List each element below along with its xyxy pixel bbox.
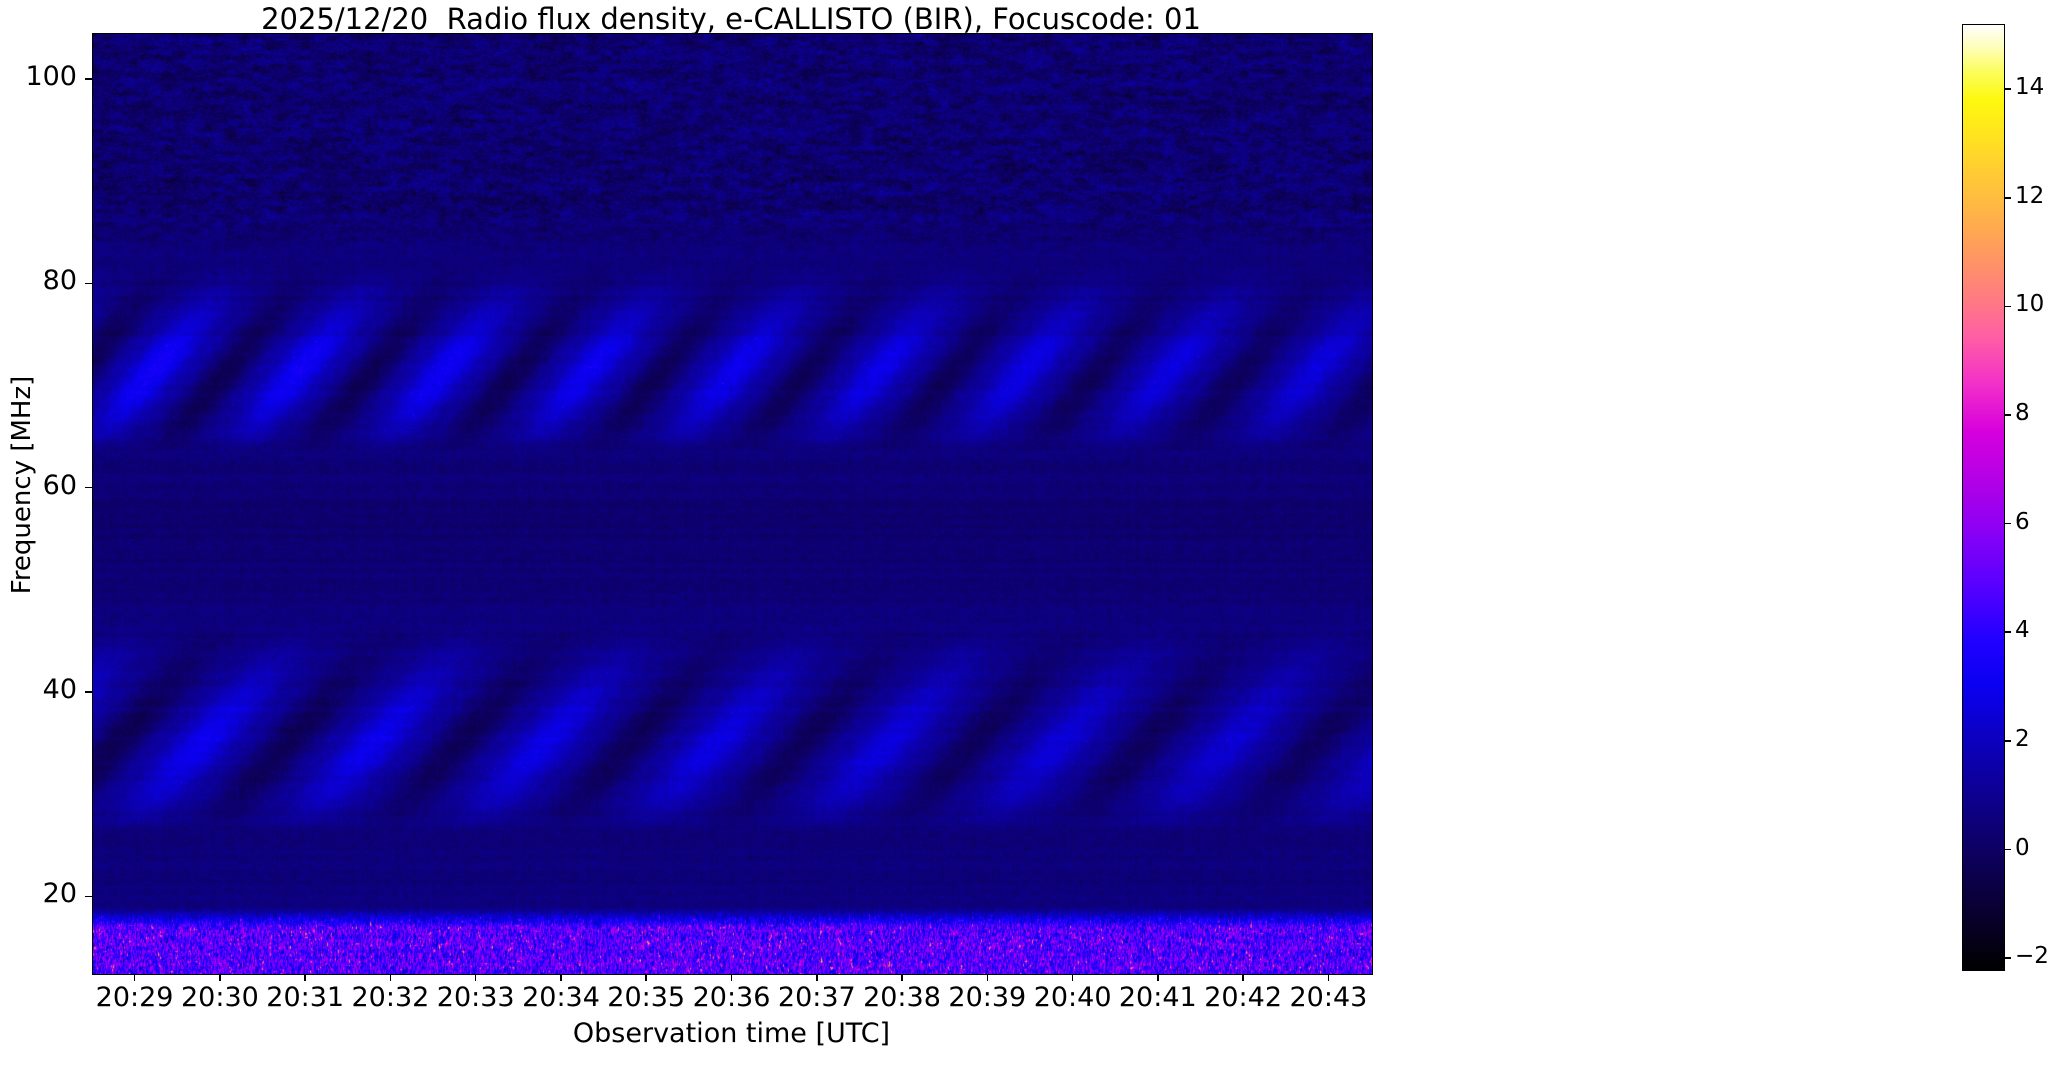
colorbar-tick-mark xyxy=(2004,88,2011,90)
colorbar-tick-label: 2 xyxy=(2015,726,2030,752)
colorbar[interactable] xyxy=(1962,24,2005,971)
x-tick-mark xyxy=(1072,974,1074,981)
figure-title: 2025/12/20 Radio flux density, e-CALLIST… xyxy=(0,2,1462,36)
x-tick-mark xyxy=(390,974,392,981)
y-tick-mark xyxy=(85,283,92,285)
x-tick-mark xyxy=(987,974,989,981)
y-tick-label: 80 xyxy=(0,265,77,296)
colorbar-gradient xyxy=(1963,25,2004,970)
x-tick-mark xyxy=(1242,974,1244,981)
x-tick-mark xyxy=(731,974,733,981)
y-tick-label: 20 xyxy=(0,878,77,909)
colorbar-tick-mark xyxy=(2004,306,2011,308)
x-tick-label: 20:43 xyxy=(1268,982,1388,1013)
colorbar-tick-label: 12 xyxy=(2015,183,2044,209)
colorbar-tick-mark xyxy=(2004,414,2011,416)
y-tick-label: 60 xyxy=(0,470,77,501)
y-tick-mark xyxy=(85,691,92,693)
x-tick-mark xyxy=(816,974,818,981)
x-axis-label: Observation time [UTC] xyxy=(92,1018,1371,1049)
spectrogram-image xyxy=(93,34,1372,974)
y-tick-mark xyxy=(85,896,92,898)
y-tick-mark xyxy=(85,487,92,489)
colorbar-tick-mark xyxy=(2004,197,2011,199)
x-tick-mark xyxy=(219,974,221,981)
y-tick-label: 100 xyxy=(0,61,77,92)
x-tick-mark xyxy=(645,974,647,981)
y-tick-mark xyxy=(85,78,92,80)
colorbar-tick-label: 14 xyxy=(2015,74,2044,100)
x-tick-mark xyxy=(560,974,562,981)
x-tick-mark xyxy=(134,974,136,981)
colorbar-tick-label: −2 xyxy=(2015,943,2049,969)
colorbar-tick-mark xyxy=(2004,523,2011,525)
x-tick-mark xyxy=(1157,974,1159,981)
spectrogram-figure: 2025/12/20 Radio flux density, e-CALLIST… xyxy=(0,0,2066,1067)
colorbar-tick-label: 8 xyxy=(2015,400,2030,426)
colorbar-tick-label: 10 xyxy=(2015,291,2044,317)
colorbar-tick-mark xyxy=(2004,631,2011,633)
colorbar-tick-label: 6 xyxy=(2015,509,2030,535)
colorbar-tick-label: 0 xyxy=(2015,835,2030,861)
x-tick-mark xyxy=(475,974,477,981)
colorbar-tick-label: 4 xyxy=(2015,617,2030,643)
colorbar-tick-mark xyxy=(2004,849,2011,851)
spectrogram-plot-area[interactable] xyxy=(92,33,1373,975)
x-tick-mark xyxy=(901,974,903,981)
colorbar-tick-mark xyxy=(2004,740,2011,742)
colorbar-tick-mark xyxy=(2004,957,2011,959)
y-tick-label: 40 xyxy=(0,674,77,705)
x-tick-mark xyxy=(304,974,306,981)
x-tick-mark xyxy=(1328,974,1330,981)
